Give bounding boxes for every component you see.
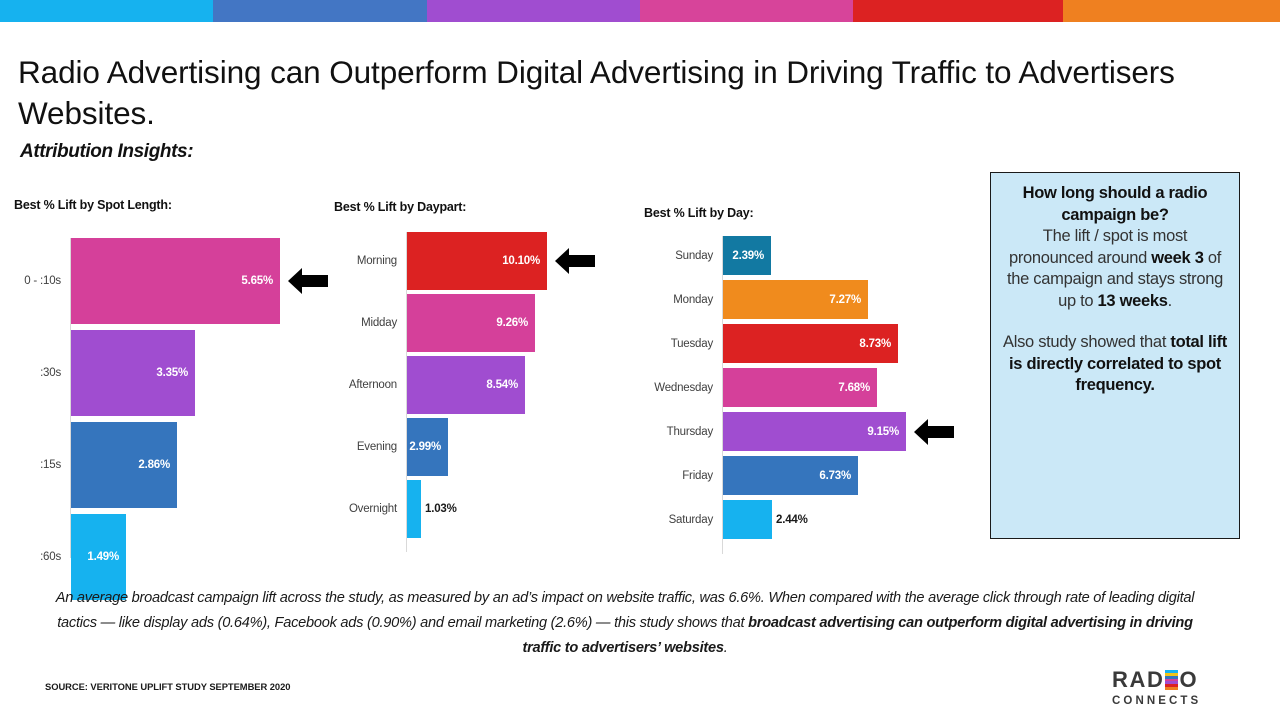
- bar-row: Evening2.99%: [406, 418, 586, 476]
- callout-heading-text: How long should a radio campaign be?: [1023, 184, 1208, 224]
- bar-category-label: 0 - :10s: [24, 275, 70, 287]
- bar-row: Monday7.27%: [722, 280, 922, 319]
- bar-monday[interactable]: 7.27%: [723, 280, 868, 319]
- chart-title-day: Best % Lift by Day:: [644, 206, 753, 220]
- bar-category-label: Tuesday: [671, 338, 722, 350]
- chart-spot-length: Best % Lift by Spot Length: 0 - :10s5.65…: [14, 198, 334, 558]
- top-color-bar: [0, 0, 1280, 22]
- bar-value-label: 7.27%: [829, 294, 868, 306]
- bar-value-label: 10.10%: [502, 255, 547, 267]
- bar-value-label: 2.86%: [138, 459, 177, 471]
- callout-p1-bold-week: week 3: [1151, 249, 1203, 267]
- color-bar-segment-pink: [640, 0, 853, 22]
- page-title: Radio Advertising can Outperform Digital…: [18, 52, 1268, 134]
- bar-30s[interactable]: 3.35%: [71, 330, 195, 416]
- bar-category-label: Afternoon: [349, 379, 406, 391]
- bar-row: Sunday2.39%: [722, 236, 922, 275]
- plot-area-spot-length: 0 - :10s5.65%:30s3.35%:15s2.86%:60s1.49%: [70, 238, 320, 558]
- bar-evening[interactable]: 2.99%: [407, 418, 448, 476]
- callout-spacer: [999, 312, 1231, 332]
- bar-morning[interactable]: 10.10%: [407, 232, 547, 290]
- bar-row: Tuesday8.73%: [722, 324, 922, 363]
- highlight-arrow-icon: [288, 266, 328, 296]
- chart-title-daypart: Best % Lift by Daypart:: [334, 200, 466, 214]
- bar-category-label: :60s: [40, 551, 70, 563]
- callout-p2-pre: Also study showed that: [1003, 333, 1170, 351]
- bar-category-label: Wednesday: [654, 382, 722, 394]
- bar-value-label: 2.99%: [409, 441, 448, 453]
- bar-category-label: Saturday: [669, 514, 722, 526]
- chart-day: Best % Lift by Day: Sunday2.39%Monday7.2…: [644, 206, 974, 552]
- callout-heading: How long should a radio campaign be?: [999, 183, 1231, 226]
- bar-category-label: Morning: [357, 255, 406, 267]
- bar-saturday[interactable]: 2.44%: [723, 500, 772, 539]
- bar-category-label: :15s: [40, 459, 70, 471]
- plot-area-daypart: Morning10.10%Midday9.26%Afternoon8.54%Ev…: [406, 232, 586, 552]
- bar-row: :30s3.35%: [70, 330, 320, 416]
- bar-category-label: Overnight: [349, 503, 406, 515]
- bar-value-label: 6.73%: [819, 470, 858, 482]
- bar-category-label: Friday: [682, 470, 722, 482]
- slide-root: Radio Advertising can Outperform Digital…: [0, 0, 1280, 720]
- bar-value-label: 1.49%: [87, 551, 126, 563]
- bar-category-label: Midday: [361, 317, 406, 329]
- callout-paragraph-2: Also study showed that total lift is dir…: [999, 332, 1231, 397]
- bar-row: Friday6.73%: [722, 456, 922, 495]
- footer-text-post: .: [724, 640, 728, 656]
- bar-row: 0 - :10s5.65%: [70, 238, 320, 324]
- bar-friday[interactable]: 6.73%: [723, 456, 858, 495]
- bar-value-label: 9.15%: [867, 426, 906, 438]
- chart-title-spot-length: Best % Lift by Spot Length:: [14, 198, 172, 212]
- bar-sunday[interactable]: 2.39%: [723, 236, 771, 275]
- logo-stripes-icon: [1165, 670, 1178, 690]
- bar-value-label: 5.65%: [241, 275, 280, 287]
- callout-p1-bold-weeks: 13 weeks: [1098, 292, 1168, 310]
- color-bar-segment-purple: [427, 0, 640, 22]
- logo-word-o: O: [1179, 668, 1198, 692]
- plot-area-day: Sunday2.39%Monday7.27%Tuesday8.73%Wednes…: [722, 236, 922, 554]
- bar-value-label: 2.39%: [732, 250, 771, 262]
- bar-tuesday[interactable]: 8.73%: [723, 324, 898, 363]
- logo-wordmark: RAD O: [1112, 668, 1242, 692]
- bar-row: Saturday2.44%: [722, 500, 922, 539]
- bar-value-label: 7.68%: [838, 382, 877, 394]
- bar-row: :15s2.86%: [70, 422, 320, 508]
- radio-connects-logo: RAD O CONNECTS: [1112, 668, 1242, 714]
- bar-row: Afternoon8.54%: [406, 356, 586, 414]
- color-bar-segment-red: [853, 0, 1063, 22]
- callout-p1-post: .: [1168, 292, 1172, 310]
- bar-0-10s[interactable]: 5.65%: [71, 238, 280, 324]
- bar-15s[interactable]: 2.86%: [71, 422, 177, 508]
- bar-category-label: Sunday: [675, 250, 722, 262]
- bar-thursday[interactable]: 9.15%: [723, 412, 906, 451]
- bar-row: Thursday9.15%: [722, 412, 922, 451]
- bar-midday[interactable]: 9.26%: [407, 294, 535, 352]
- logo-word-rad: RAD: [1112, 668, 1164, 692]
- chart-daypart: Best % Lift by Daypart: Morning10.10%Mid…: [334, 200, 624, 552]
- bar-category-label: :30s: [40, 367, 70, 379]
- bar-row: Wednesday7.68%: [722, 368, 922, 407]
- bar-value-label: 2.44%: [723, 514, 808, 526]
- callout-paragraph-1: The lift / spot is most pronounced aroun…: [999, 226, 1231, 312]
- color-bar-segment-blue: [213, 0, 427, 22]
- bar-value-label: 8.73%: [859, 338, 898, 350]
- bar-row: Morning10.10%: [406, 232, 586, 290]
- highlight-arrow-icon: [914, 417, 954, 447]
- bar-category-label: Thursday: [667, 426, 722, 438]
- color-bar-segment-orange: [1063, 0, 1280, 22]
- color-bar-segment-cyan: [0, 0, 213, 22]
- callout-box: How long should a radio campaign be? The…: [990, 172, 1240, 539]
- footer-paragraph: An average broadcast campaign lift acros…: [55, 586, 1195, 661]
- bar-value-label: 9.26%: [496, 317, 535, 329]
- bar-category-label: Monday: [673, 294, 722, 306]
- bar-afternoon[interactable]: 8.54%: [407, 356, 525, 414]
- bar-row: Midday9.26%: [406, 294, 586, 352]
- bar-overnight[interactable]: 1.03%: [407, 480, 421, 538]
- highlight-arrow-icon: [555, 246, 595, 276]
- page-subtitle: Attribution Insights:: [20, 141, 193, 163]
- logo-subtext: CONNECTS: [1112, 695, 1242, 708]
- bar-category-label: Evening: [357, 441, 406, 453]
- source-note: SOURCE: VERITONE UPLIFT STUDY SEPTEMBER …: [45, 681, 290, 692]
- bar-value-label: 1.03%: [407, 503, 457, 515]
- bar-wednesday[interactable]: 7.68%: [723, 368, 877, 407]
- bar-value-label: 3.35%: [156, 367, 195, 379]
- bar-value-label: 8.54%: [486, 379, 525, 391]
- bar-row: Overnight1.03%: [406, 480, 586, 538]
